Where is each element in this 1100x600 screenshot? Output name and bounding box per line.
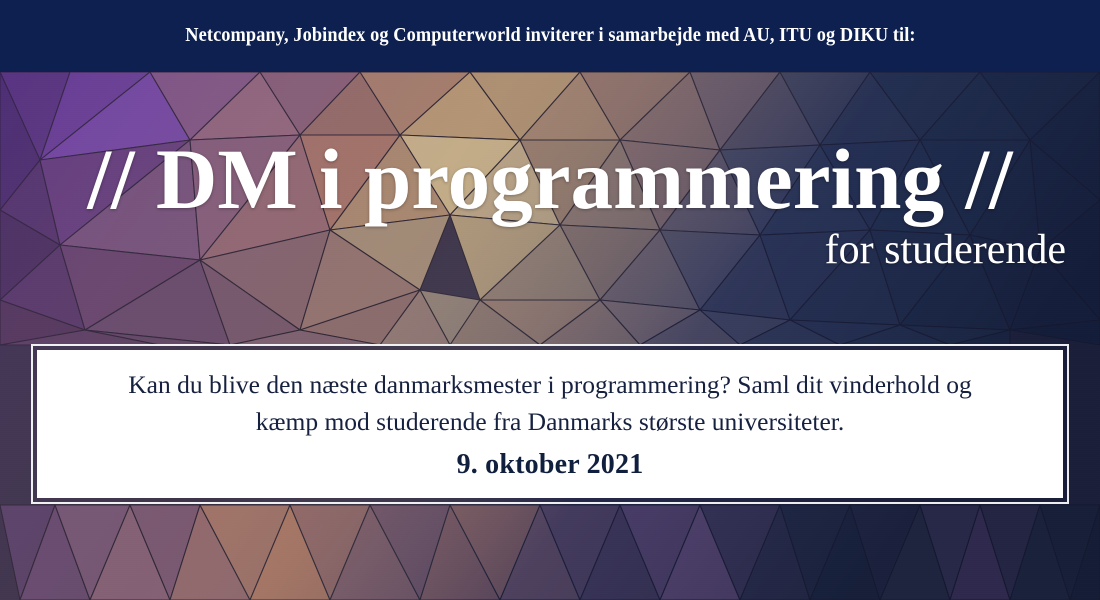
info-box: Kan du blive den næste danmarksmester i …: [37, 350, 1063, 498]
info-description: Kan du blive den næste danmarksmester i …: [110, 367, 990, 439]
sponsor-banner: Netcompany, Jobindex og Computerworld in…: [0, 0, 1100, 72]
info-box-frame: Kan du blive den næste danmarksmester i …: [31, 344, 1069, 504]
page-subtitle: for studerende: [0, 222, 1100, 272]
event-poster: Netcompany, Jobindex og Computerworld in…: [0, 0, 1100, 600]
page-title: // DM i programmering //: [6, 72, 1095, 222]
sponsor-banner-text: Netcompany, Jobindex og Computerworld in…: [185, 25, 915, 47]
hero-heading-block: // DM i programmering // for studerende: [0, 72, 1100, 272]
event-date: 9. oktober 2021: [457, 449, 644, 481]
